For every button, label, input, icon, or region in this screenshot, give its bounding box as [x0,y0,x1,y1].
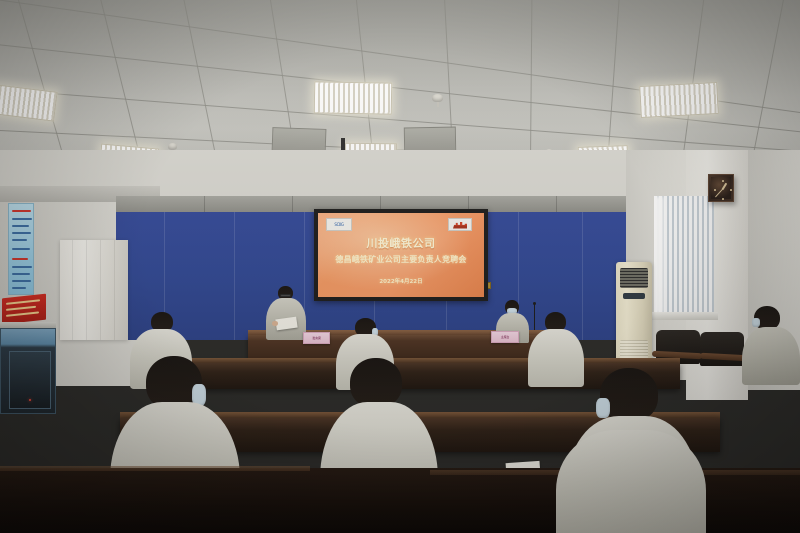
header-seam [204,196,205,212]
attendee-torso [742,327,800,385]
clock-mark [722,198,724,200]
speaker-hand [272,321,278,326]
smoke-detector [432,94,443,102]
smoke-detector [168,143,177,150]
wall-poster [8,203,34,295]
sign-text-line [6,311,39,316]
attendee-face-mask [752,318,760,327]
header-seam [292,196,293,212]
poster-heading-line [12,210,31,212]
ac-intake-grill [620,268,648,288]
attendee-head [350,358,402,408]
wall-clock [708,174,734,202]
speaker-name-card: 发言席 [303,332,330,344]
slide-logo-left: SCIIG [326,218,352,231]
clock-hand-minute [715,189,723,197]
speaker-name-card-text: 发言席 [304,333,329,343]
slide-title-primary: 川投峨铁公司 [318,235,484,251]
clock-mark [722,180,724,182]
curtain-fold [100,240,101,340]
presider-name-card-text: 主席台 [492,332,518,342]
electrical-cabinet [0,328,56,414]
attendee-torso [556,430,706,533]
cabinet-status-led [29,399,31,401]
poster-text-line [12,280,31,282]
curtain-fold [86,240,87,340]
attendee-face-mask [596,398,610,418]
white-curtain [60,240,128,340]
ceiling-light-panel [0,84,58,121]
curtain-fold [72,240,73,340]
panel-seam [234,212,235,340]
poster-text-line [12,273,30,275]
speaker-glasses [280,294,291,297]
poster-text-line [12,218,32,220]
poster-text-line [12,266,32,268]
attendee-person [742,306,800,380]
window-sill [650,312,718,320]
empty-chair[interactable] [700,332,744,366]
window-light-glow [654,196,664,314]
slide-logo-right [448,218,472,231]
poster-text-line [12,239,27,241]
projection-screen[interactable]: SCIIG 川投峨铁公司 德昌峨铁矿业公司主要负责人竞聘会 2022年4月22日 [318,213,484,297]
window [654,196,714,314]
meeting-room-photo: SCIIG 川投峨铁公司 德昌峨铁矿业公司主要负责人竞聘会 2022年4月22日 [0,0,800,533]
foreground-desk-top-edge [0,466,310,471]
sign-text-line [6,306,36,311]
poster-text-line [12,225,29,227]
slide-logo-right-mark [453,221,467,229]
slide-date: 2022年4月22日 [318,277,484,285]
attendee-person-nearest [556,430,706,533]
poster-text-line [12,248,30,250]
ceiling-light-panel [639,82,719,118]
safety-warning-sign [2,294,46,325]
speaker-person [262,286,308,338]
presider-microphone-head [533,302,536,305]
poster-text-line [12,232,31,234]
sign-text-line [6,299,40,304]
projection-screen-frame: SCIIG 川投峨铁公司 德昌峨铁矿业公司主要负责人竞聘会 2022年4月22日 [314,209,488,301]
clock-mark [730,189,732,191]
poster-heading-line [12,258,28,260]
clock-face [711,177,731,199]
slide-logo-left-mark: SCIIG [334,223,343,227]
presider-name-card: 主席台 [491,331,519,343]
ac-control-panel[interactable] [623,293,645,299]
poster-text-line [12,287,26,289]
ceiling-light-panel [314,81,393,114]
slide-title-secondary: 德昌峨铁矿业公司主要负责人竞聘会 [318,254,484,265]
curtain-fold [114,240,115,340]
clock-mark [714,189,716,191]
header-seam [556,196,557,212]
